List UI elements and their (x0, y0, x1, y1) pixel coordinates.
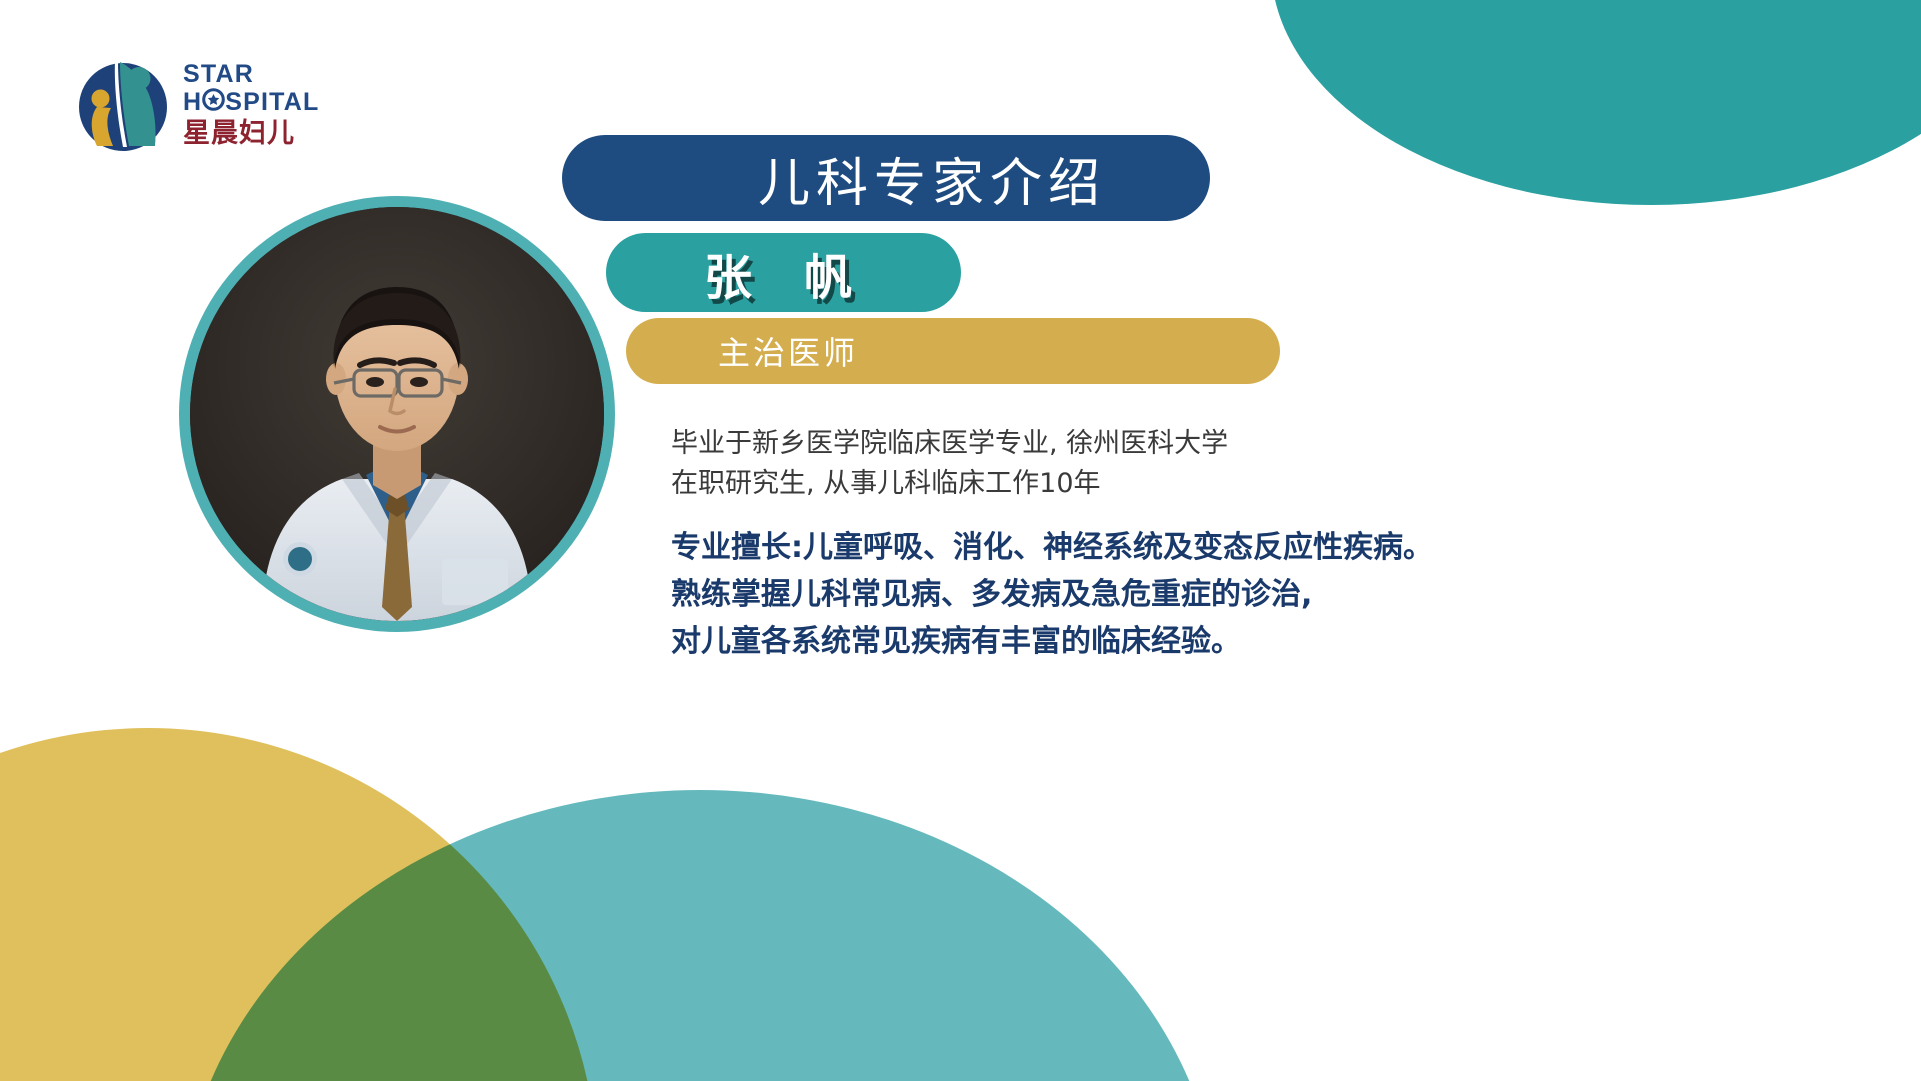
logo-hospital-h: H (183, 88, 202, 116)
bio-line: 毕业于新乡医学院临床医学专业, 徐州医科大学 (671, 424, 1371, 464)
poster-canvas: STAR H SPITAL 星晨妇儿 儿科专家介绍 张 帆 主治医师 (0, 0, 1921, 1081)
decorative-circle-top-right (1271, 0, 1921, 205)
logo-wordmark: STAR H SPITAL 星晨妇儿 (183, 60, 333, 150)
star-hospital-mark-icon (73, 54, 173, 154)
star-in-o-icon (202, 88, 225, 116)
doctor-role-banner: 主治医师 (626, 318, 1280, 384)
doctor-name-text: 张 帆 (606, 238, 854, 308)
bio-line: 在职研究生, 从事儿科临床工作10年 (671, 464, 1371, 504)
logo-star-text: STAR (183, 60, 333, 88)
doctor-role-text: 主治医师 (626, 328, 858, 374)
doctor-bio: 毕业于新乡医学院临床医学专业, 徐州医科大学 在职研究生, 从事儿科临床工作10… (671, 424, 1371, 504)
brand-logo[interactable]: STAR H SPITAL 星晨妇儿 (73, 48, 333, 160)
doctor-photo-ring (179, 196, 615, 632)
section-title-banner: 儿科专家介绍 (562, 135, 1210, 221)
section-title-text: 儿科专家介绍 (666, 141, 1106, 216)
logo-hospital-rest: SPITAL (225, 88, 319, 116)
specialty-line: 熟练掌握儿科常见病、多发病及急危重症的诊治, (671, 571, 1571, 618)
logo-chinese-text: 星晨妇儿 (183, 118, 333, 150)
specialty-line: 对儿童各系统常见疾病有丰富的临床经验。 (671, 618, 1571, 665)
logo-hospital-text: H SPITAL (183, 88, 333, 116)
specialty-line: 专业擅长:儿童呼吸、消化、神经系统及变态反应性疾病。 (671, 524, 1571, 571)
doctor-photo (190, 207, 604, 621)
doctor-name-banner: 张 帆 (606, 233, 961, 312)
doctor-specialty: 专业擅长:儿童呼吸、消化、神经系统及变态反应性疾病。 熟练掌握儿科常见病、多发病… (671, 524, 1571, 665)
